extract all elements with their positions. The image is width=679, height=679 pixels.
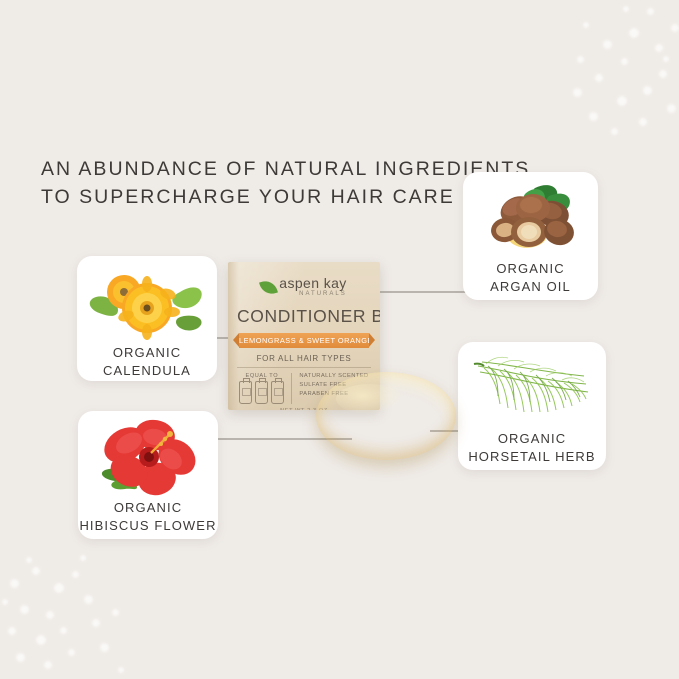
connector-line-argan xyxy=(366,291,474,293)
bottle-icon xyxy=(239,381,252,404)
bottle-icon xyxy=(271,381,284,404)
decorative-dots-top-right xyxy=(559,0,679,130)
scent-ribbon: LEMONGRASS & SWEET ORANGE xyxy=(239,333,369,348)
ingredient-card-calendula[interactable]: ORGANIC CALENDULA xyxy=(77,256,217,381)
card-caption: ORGANIC HIBISCUS FLOWER xyxy=(78,499,218,535)
decorative-dots-bottom-left xyxy=(0,549,130,679)
yellow-soap-bar[interactable] xyxy=(316,372,456,460)
caption-line-1: ORGANIC xyxy=(496,261,564,276)
card-caption: ORGANIC CALENDULA xyxy=(77,344,217,380)
brand-lockup: aspen kay NATURALS xyxy=(237,276,371,299)
bottle-icons xyxy=(239,381,284,404)
infographic-canvas: AN ABUNDANCE OF NATURAL INGREDIENTS TO S… xyxy=(0,0,679,679)
brand-name: aspen kay xyxy=(279,276,346,290)
caption-line-1: ORGANIC xyxy=(113,345,181,360)
caption-line-1: ORGANIC xyxy=(498,431,566,446)
product-title: CONDITIONER BAR xyxy=(237,306,371,327)
facts-divider xyxy=(291,373,292,404)
ingredient-card-hibiscus[interactable]: ORGANIC HIBISCUS FLOWER xyxy=(78,411,218,539)
horsetail-herb-icon xyxy=(458,350,606,428)
bottle-icon xyxy=(255,381,268,404)
caption-line-2: ARGAN OIL xyxy=(463,278,598,296)
ingredient-card-horsetail[interactable]: ORGANIC HORSETAIL HERB xyxy=(458,342,606,470)
card-caption: ORGANIC HORSETAIL HERB xyxy=(458,430,606,466)
ingredient-card-argan-oil[interactable]: ORGANIC ARGAN OIL xyxy=(463,172,598,300)
brand-subtitle: NATURALS xyxy=(279,290,346,299)
caption-line-2: HORSETAIL HERB xyxy=(458,448,606,466)
hair-types-label: FOR ALL HAIR TYPES xyxy=(237,354,371,368)
hibiscus-flower-icon xyxy=(78,419,218,497)
green-leaf-icon xyxy=(259,278,278,297)
equal-to-block: EQUAL TO xyxy=(239,373,284,404)
caption-line-1: ORGANIC xyxy=(114,500,182,515)
caption-line-2: CALENDULA xyxy=(77,362,217,380)
page-title: AN ABUNDANCE OF NATURAL INGREDIENTS TO S… xyxy=(41,155,501,211)
caption-line-2: HIBISCUS FLOWER xyxy=(78,517,218,535)
headline-line-2: TO SUPERCHARGE YOUR HAIR CARE ROUTINE xyxy=(41,183,501,211)
headline-line-1: AN ABUNDANCE OF NATURAL INGREDIENTS xyxy=(41,155,501,183)
card-caption: ORGANIC ARGAN OIL xyxy=(463,260,598,296)
argan-nuts-icon xyxy=(463,180,598,258)
calendula-flower-icon xyxy=(77,264,217,342)
